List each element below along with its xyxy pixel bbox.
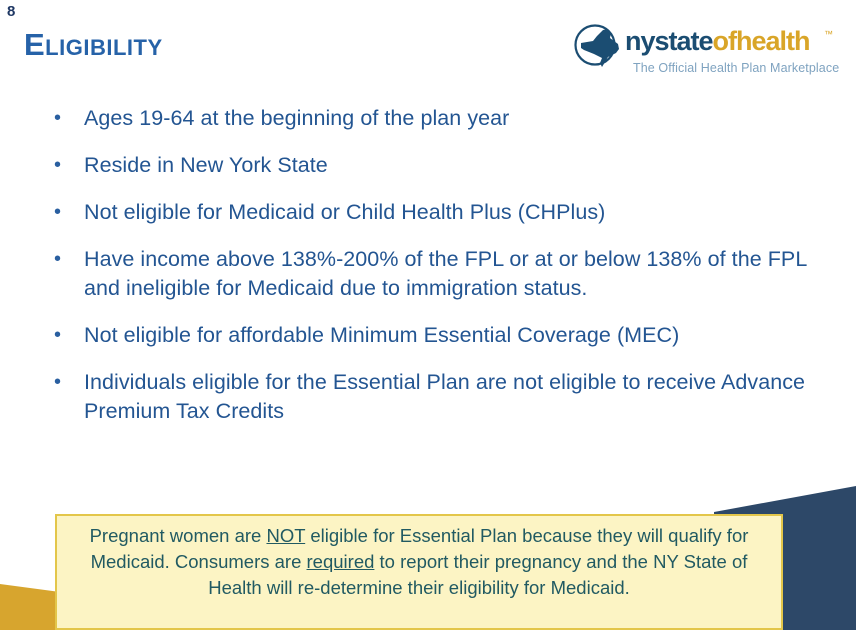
bullet-point-icon: • [48,198,84,227]
callout-emphasis-required: required [307,551,375,572]
page-title: Eligibility [24,29,163,60]
list-item-text: Not eligible for affordable Minimum Esse… [84,321,816,350]
new-york-state-outline-icon [570,24,628,70]
list-item-text: Ages 19-64 at the beginning of the plan … [84,104,816,133]
list-item-text: Have income above 138%-200% of the FPL o… [84,245,816,303]
logo-wordmark: nystateofhealth [625,28,810,55]
list-item: • Not eligible for affordable Minimum Es… [48,321,816,350]
callout-emphasis-not: NOT [266,525,305,546]
list-item: • Ages 19-64 at the beginning of the pla… [48,104,816,133]
list-item: • Not eligible for Medicaid or Child Hea… [48,198,816,227]
bullet-point-icon: • [48,104,84,133]
list-item-text: Not eligible for Medicaid or Child Healt… [84,198,816,227]
logo-word-ofhealth: ofhealth [713,26,810,56]
slide-canvas: 8 Eligibility nystateofhealth ™ The Offi… [0,0,856,630]
nystateofhealth-logo: nystateofhealth ™ The Official Health Pl… [570,24,842,80]
logo-word-nystate: nystate [625,26,713,56]
pregnancy-notice-callout: Pregnant women are NOT eligible for Esse… [55,514,783,630]
list-item-text: Reside in New York State [84,151,816,180]
page-number: 8 [7,3,15,20]
bullet-point-icon: • [48,151,84,180]
list-item: • Have income above 138%-200% of the FPL… [48,245,816,303]
eligibility-bullet-list: • Ages 19-64 at the beginning of the pla… [48,104,816,444]
list-item: • Individuals eligible for the Essential… [48,368,816,426]
list-item: • Reside in New York State [48,151,816,180]
trademark-symbol: ™ [824,29,833,39]
list-item-text: Individuals eligible for the Essential P… [84,368,816,426]
callout-text-part1: Pregnant women are [90,525,267,546]
bullet-point-icon: • [48,321,84,350]
bullet-point-icon: • [48,245,84,274]
bullet-point-icon: • [48,368,84,397]
logo-tagline: The Official Health Plan Marketplace [633,61,839,75]
